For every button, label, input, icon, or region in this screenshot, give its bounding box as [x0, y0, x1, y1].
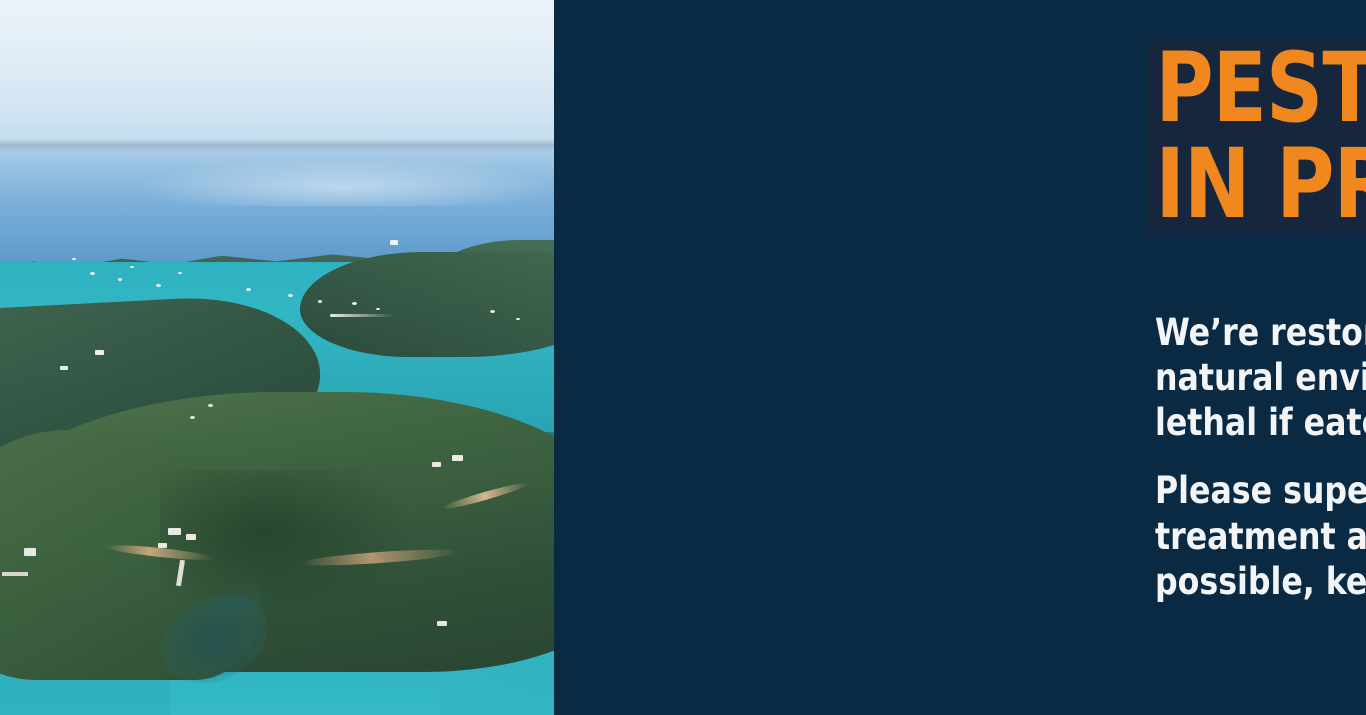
shoreline-house — [437, 621, 447, 626]
message-panel: PEST CONTROL IN PROGRESS We’re restoring… — [554, 0, 1366, 715]
shoreline-house — [452, 455, 463, 461]
moored-boat — [190, 416, 195, 419]
shoreline-house — [158, 543, 167, 548]
kawau-island-aerial-photo — [0, 0, 554, 715]
body-paragraph-2: Please supervise children, avoid treatme… — [1155, 468, 1366, 603]
pest-control-poster: PEST CONTROL IN PROGRESS We’re restoring… — [0, 0, 1366, 715]
shoreline-house — [24, 548, 36, 556]
headline-line-2: IN PROGRESS — [1148, 138, 1366, 234]
headline-line-1: PEST CONTROL — [1148, 42, 1366, 138]
moored-boat — [178, 272, 182, 274]
peninsula-right — [300, 252, 554, 357]
shoreline-house — [60, 366, 68, 370]
headline: PEST CONTROL IN PROGRESS — [1148, 0, 1366, 234]
moored-boat — [156, 284, 161, 287]
moored-boat — [118, 278, 122, 281]
moored-boat — [490, 310, 495, 313]
shoreline-house — [432, 462, 441, 467]
moored-boat — [246, 288, 251, 291]
moored-boat — [516, 318, 520, 320]
moored-boat — [90, 272, 95, 275]
shoreline-house — [95, 350, 104, 355]
moored-boat — [318, 300, 322, 303]
distant-horizon-land — [0, 139, 554, 153]
sky-layer — [0, 0, 554, 152]
moored-boat — [208, 404, 213, 407]
body-copy: We’re restoring Kawau Island’s natural e… — [1155, 310, 1366, 604]
shoreline-house — [390, 240, 398, 245]
shoreline-house — [168, 528, 181, 535]
ocean-sun-sheen — [0, 158, 554, 206]
moored-boat — [352, 302, 357, 305]
boat-wake — [330, 314, 394, 317]
shoreline-house — [186, 534, 196, 540]
moored-boat — [130, 266, 134, 268]
moored-boat — [288, 294, 293, 297]
body-paragraph-1: We’re restoring Kawau Island’s natural e… — [1155, 310, 1366, 445]
jetty-west — [2, 572, 28, 576]
moored-boat — [376, 308, 380, 310]
moored-boat — [72, 258, 76, 260]
headland-shadow — [160, 470, 420, 620]
